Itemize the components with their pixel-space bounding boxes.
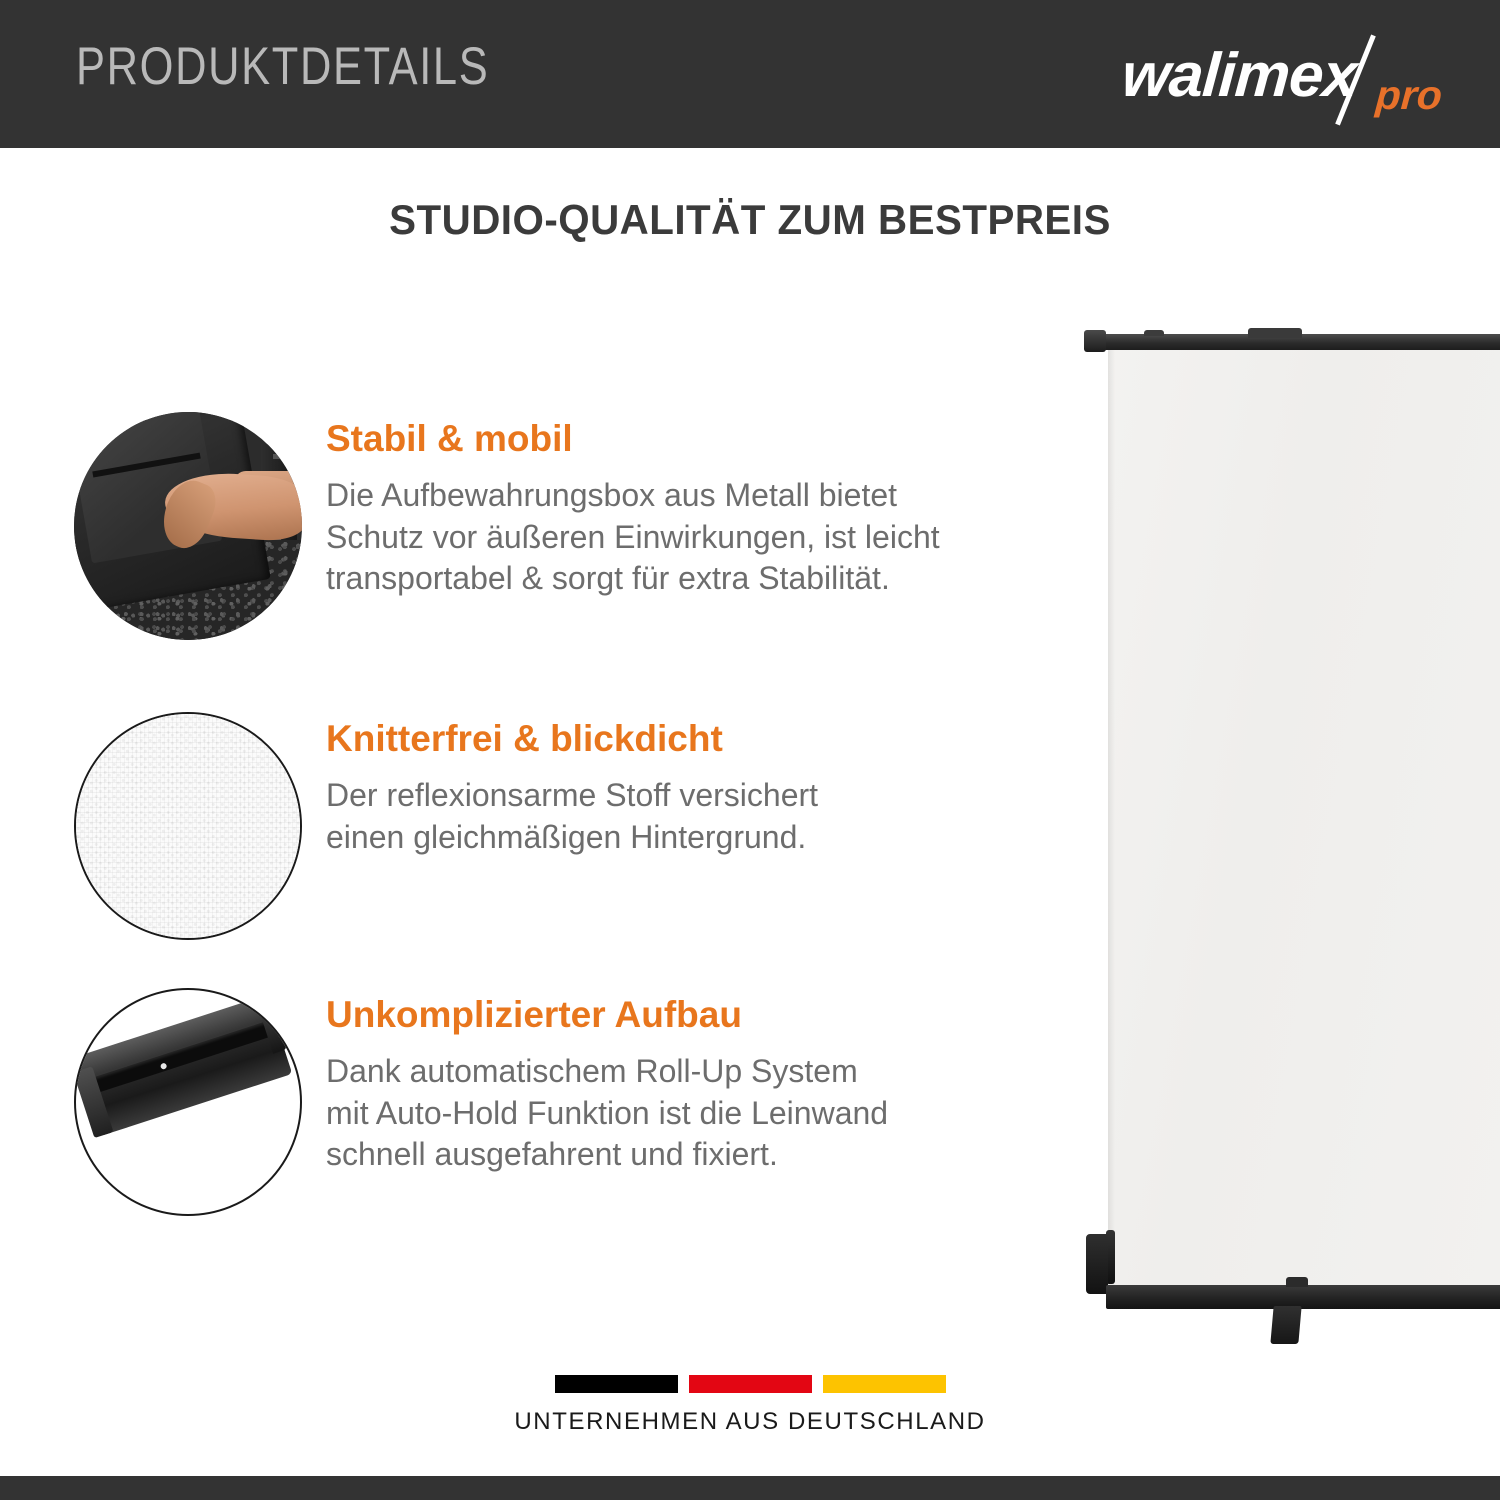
- header-bar: PRODUKTDETAILS walimex pro: [0, 0, 1500, 148]
- feature-row-unkomplizierter-aufbau: Unkomplizierter Aufbau Dank automatische…: [74, 988, 1094, 1216]
- feature-body: Die Aufbewahrungsbox aus Metall bietet S…: [326, 475, 940, 600]
- storage-box-photo: [74, 412, 302, 640]
- product-photo-rollup-backdrop: [1080, 312, 1500, 1382]
- feature-title: Knitterfrei & blickdicht: [326, 720, 818, 757]
- feature-text-block: Knitterfrei & blickdicht Der reflexionsa…: [326, 712, 818, 858]
- footer-bar: [0, 1476, 1500, 1500]
- feature-row-stabil-mobil: Stabil & mobil Die Aufbewahrungsbox aus …: [74, 412, 1094, 640]
- base-case: [1106, 1285, 1500, 1309]
- feature-body: Dank automatischem Roll-Up System mit Au…: [326, 1051, 888, 1176]
- left-leg: [1086, 1234, 1108, 1294]
- made-in-germany-badge: UNTERNEHMEN AUS DEUTSCHLAND: [0, 1375, 1500, 1436]
- top-rail-end-cap: [1084, 330, 1106, 352]
- fabric-texture-photo: [74, 712, 302, 940]
- feature-title: Unkomplizierter Aufbau: [326, 996, 888, 1033]
- made-in-germany-label: UNTERNEHMEN AUS DEUTSCHLAND: [514, 1408, 985, 1436]
- rollup-case-photo: [74, 988, 302, 1216]
- feature-body: Der reflexionsarme Stoff versichert eine…: [326, 775, 818, 858]
- feature-title: Stabil & mobil: [326, 420, 940, 457]
- feature-row-knitterfrei-blickdicht: Knitterfrei & blickdicht Der reflexionsa…: [74, 712, 1094, 940]
- top-rail: [1098, 334, 1500, 350]
- backdrop-screen-surface: [1108, 348, 1500, 1289]
- feature-text-block: Stabil & mobil Die Aufbewahrungsbox aus …: [326, 412, 940, 600]
- page-title: PRODUKTDETAILS: [76, 36, 489, 97]
- top-rail-handle: [1248, 328, 1302, 338]
- logo-wordmark: walimex: [1119, 40, 1358, 111]
- section-headline: STUDIO-QUALITÄT ZUM BESTPREIS: [30, 196, 1470, 244]
- top-rail-stud: [1144, 330, 1164, 336]
- german-flag-icon: [555, 1375, 946, 1393]
- walimex-pro-logo: walimex pro: [1112, 36, 1442, 114]
- base-foot: [1270, 1306, 1301, 1344]
- flag-stripe-black: [555, 1375, 678, 1393]
- feature-text-block: Unkomplizierter Aufbau Dank automatische…: [326, 988, 888, 1176]
- logo-pro-suffix: pro: [1374, 72, 1443, 119]
- base-clip: [1286, 1277, 1308, 1287]
- flag-stripe-red: [689, 1375, 812, 1393]
- flag-stripe-gold: [823, 1375, 946, 1393]
